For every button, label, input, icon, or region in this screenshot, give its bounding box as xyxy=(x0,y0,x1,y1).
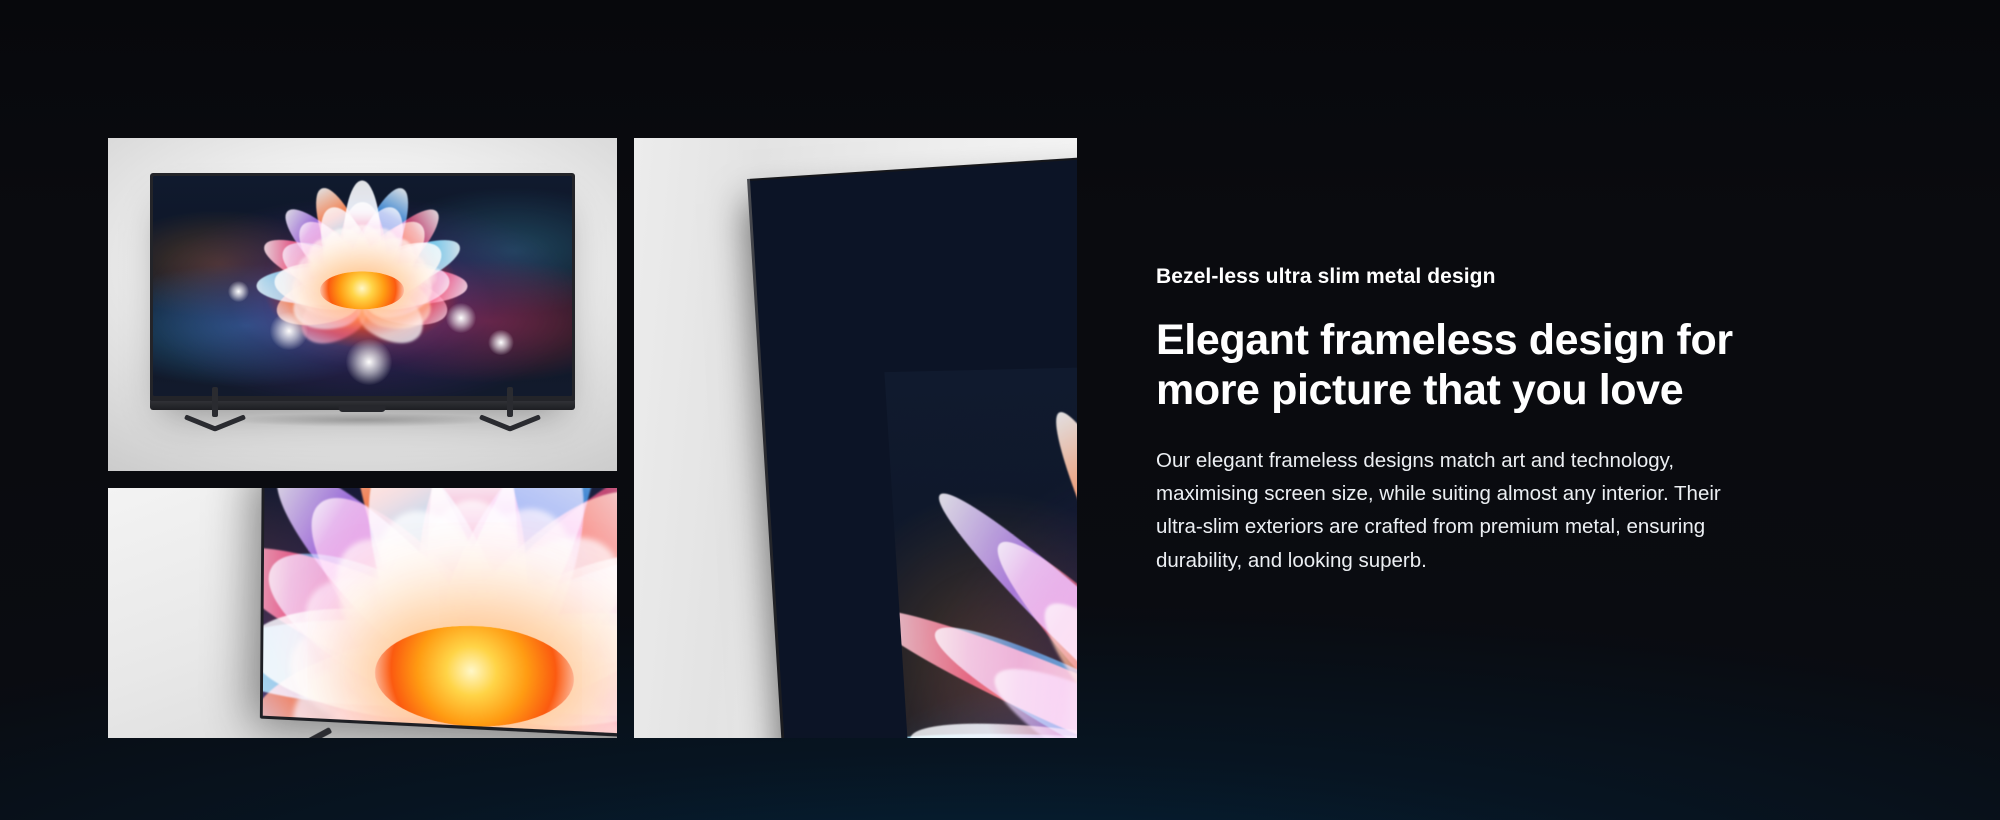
crystal-lotus-artwork xyxy=(262,488,617,738)
specular-highlight xyxy=(488,330,513,355)
tv-screen xyxy=(153,176,573,396)
specular-highlight xyxy=(304,255,325,276)
specular-highlight xyxy=(346,339,392,385)
copy-block: Bezel-less ultra slim metal design Elega… xyxy=(1156,263,1836,577)
petal-group xyxy=(884,355,1077,738)
specular-highlight xyxy=(446,303,475,332)
eyebrow-text: Bezel-less ultra slim metal design xyxy=(1156,263,1836,290)
tv-foot-left xyxy=(184,383,246,419)
flower-core xyxy=(321,272,405,309)
tv-screen xyxy=(262,488,617,738)
body-text: Our elegant frameless designs match art … xyxy=(1156,444,1736,577)
tv-foot xyxy=(287,716,385,738)
specular-highlight xyxy=(413,264,438,289)
product-gallery xyxy=(108,138,1077,738)
gallery-left-column xyxy=(108,138,617,738)
gallery-image-angled-close-up[interactable] xyxy=(108,488,617,738)
crystal-lotus-artwork xyxy=(153,176,573,396)
headline-text: Elegant frameless design for more pictur… xyxy=(1156,316,1776,416)
specular-highlight xyxy=(270,312,308,350)
tv-logo-nub xyxy=(339,405,386,412)
specular-highlight xyxy=(228,281,249,302)
crystal-lotus-artwork xyxy=(884,355,1077,738)
tv-chassis-angled xyxy=(260,488,617,738)
tv-screen xyxy=(750,145,1077,738)
tv-foot-right xyxy=(479,383,541,419)
promo-banner: Bezel-less ultra slim metal design Elega… xyxy=(0,0,2000,820)
tv-chassis-front xyxy=(150,173,576,403)
tv-chassis-edge xyxy=(747,143,1077,738)
specular-highlight xyxy=(337,582,384,630)
gallery-image-front-view[interactable] xyxy=(108,138,617,471)
gallery-image-bezel-edge-hero[interactable] xyxy=(634,138,1077,738)
